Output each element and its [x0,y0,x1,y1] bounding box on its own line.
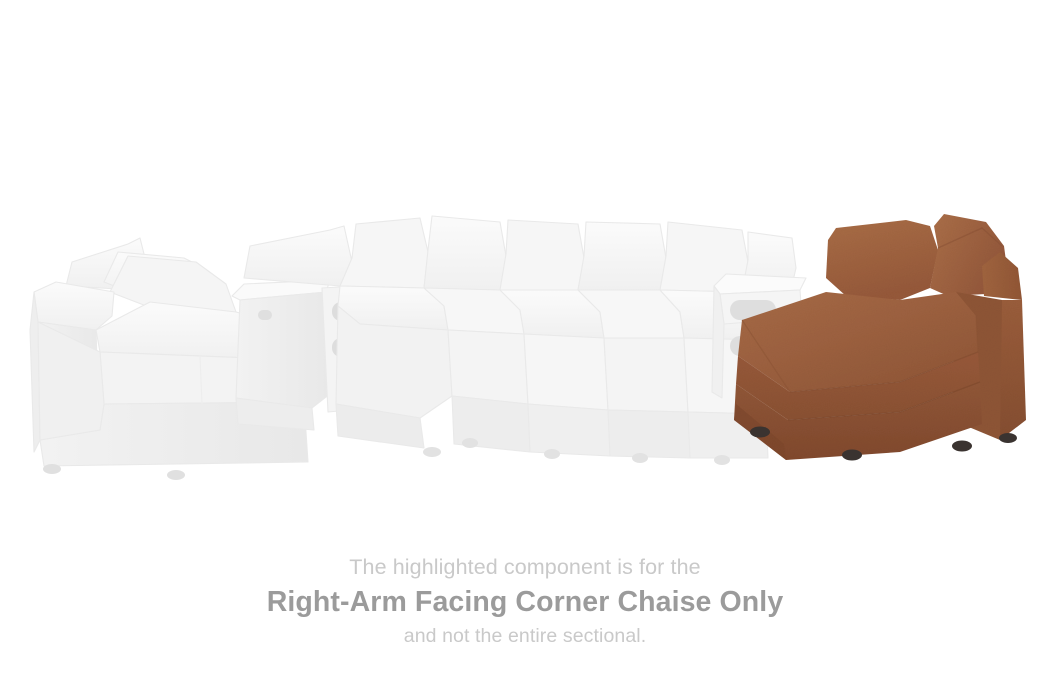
caption-block: The highlighted component is for the Rig… [0,552,1050,650]
chaise-back-cushion-left [826,220,938,300]
caption-line-1: The highlighted component is for the [0,552,1050,582]
product-image-stage: The highlighted component is for the Rig… [0,0,1050,700]
caption-line-2: Right-Arm Facing Corner Chaise Only [0,582,1050,622]
caption-line-3: and not the entire sectional. [0,622,1050,650]
